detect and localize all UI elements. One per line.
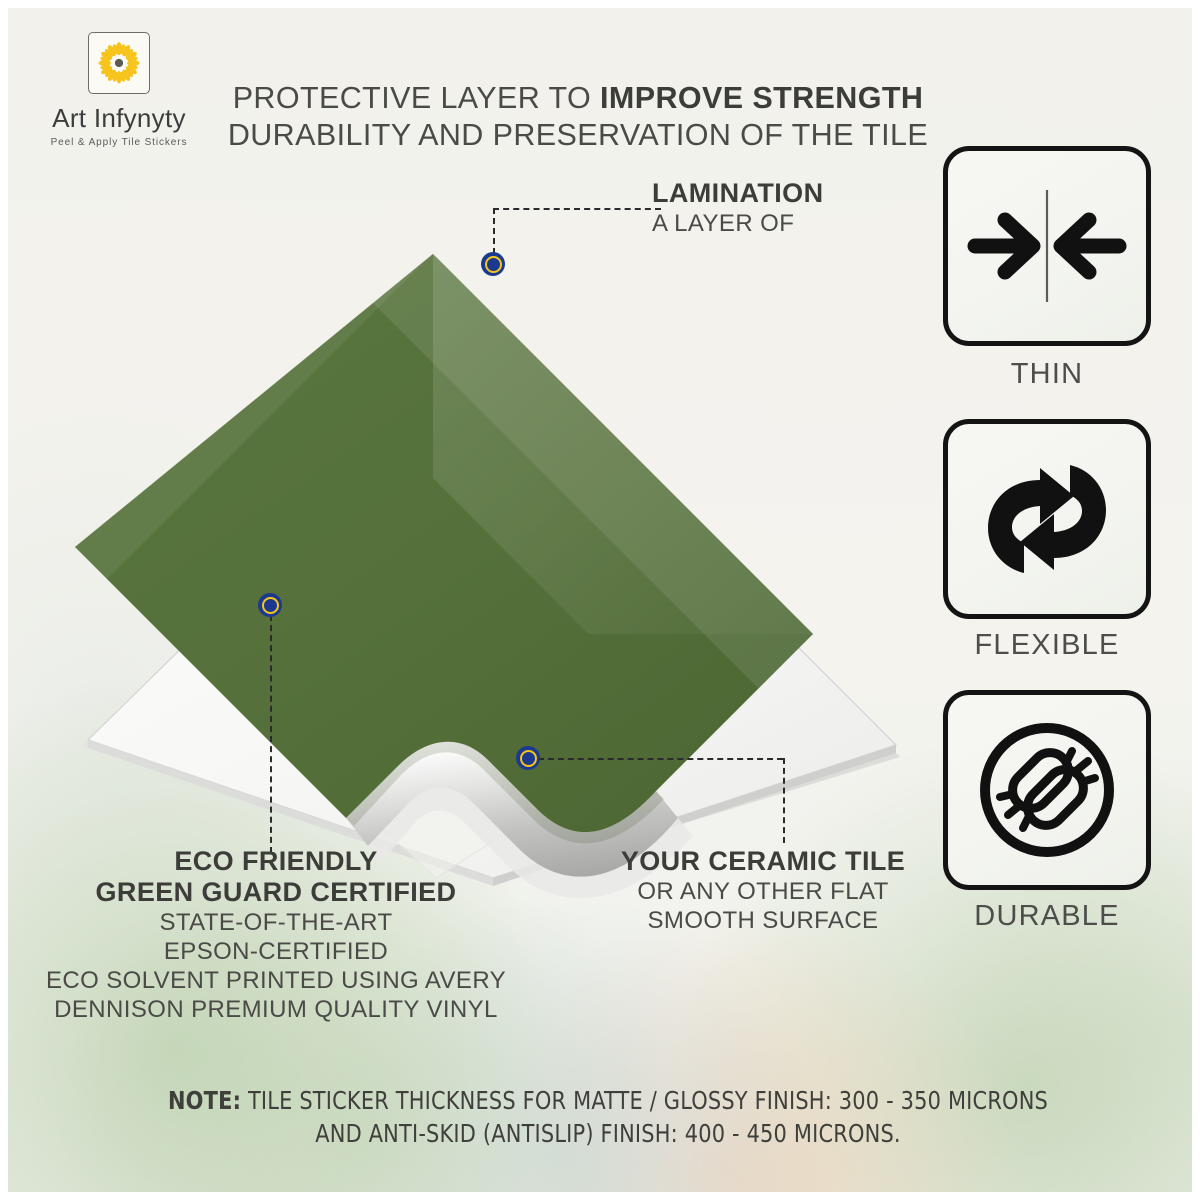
- page-title: PROTECTIVE LAYER TO IMPROVE STRENGTH DUR…: [208, 80, 948, 154]
- callout-eco-sub-line2: EPSON-CERTIFIED: [26, 937, 526, 966]
- brand-name: Art Infynyty: [34, 103, 204, 134]
- layer-stack-diagram: [68, 178, 918, 938]
- callout-eco-sub-line4: DENNISON PREMIUM QUALITY VINYL: [26, 995, 526, 1024]
- sunflower-icon: [88, 32, 150, 94]
- feature-flexible[interactable]: FLEXIBLE: [938, 419, 1156, 662]
- feature-durable-label: DURABLE: [938, 900, 1156, 933]
- headline-line1-plain: PROTECTIVE LAYER TO: [233, 81, 600, 115]
- callout-eco-title-line1: ECO FRIENDLY: [26, 846, 526, 877]
- brand-tagline: Peel & Apply Tile Stickers: [34, 137, 204, 148]
- callout-eco-sub-line1: STATE-OF-THE-ART: [26, 908, 526, 937]
- headline-line2: DURABILITY AND PRESERVATION OF THE TILE: [228, 118, 928, 152]
- arrows-inward-icon: [967, 176, 1127, 316]
- feature-durable[interactable]: DURABLE: [938, 690, 1156, 933]
- feature-badges: THIN FLEXIBLE: [938, 146, 1156, 961]
- leader-line-eco-vertical: [270, 615, 272, 853]
- feature-thin[interactable]: THIN: [938, 146, 1156, 391]
- note-label: NOTE:: [168, 1086, 241, 1115]
- note-line1: TILE STICKER THICKNESS FOR MATTE / GLOSS…: [241, 1086, 1048, 1115]
- feature-flexible-label: FLEXIBLE: [938, 629, 1156, 662]
- leader-line-lamination-horizontal: [493, 208, 661, 210]
- note-line2: AND ANTI-SKID (ANTISLIP) FINISH: 400 - 4…: [315, 1119, 900, 1148]
- marker-lamination[interactable]: [481, 252, 505, 276]
- feature-flexible-box: [943, 419, 1151, 619]
- callout-eco-title-line2: GREEN GUARD CERTIFIED: [26, 877, 526, 908]
- note-text: NOTE: TILE STICKER THICKNESS FOR MATTE /…: [106, 1084, 1110, 1150]
- headline-line1-bold: IMPROVE STRENGTH: [600, 81, 923, 115]
- marker-ceramic-tile[interactable]: [516, 746, 540, 770]
- twisted-arrows-icon: [972, 444, 1122, 594]
- callout-eco-friendly: ECO FRIENDLY GREEN GUARD CERTIFIED STATE…: [26, 846, 526, 1024]
- infographic-root: Art Infynyty Peel & Apply Tile Stickers …: [0, 0, 1200, 1200]
- callout-ceramic-tile: YOUR CERAMIC TILE OR ANY OTHER FLAT SMOO…: [588, 846, 938, 935]
- callout-eco-sub-line3: ECO SOLVENT PRINTED USING AVERY: [26, 966, 526, 995]
- brand-logo[interactable]: Art Infynyty Peel & Apply Tile Stickers: [34, 32, 204, 148]
- leader-line-tile-vertical: [783, 758, 785, 843]
- callout-lamination: LAMINATION A LAYER OF: [652, 178, 823, 238]
- callout-lamination-subtitle: A LAYER OF: [652, 209, 823, 238]
- unbreakable-chain-link-icon: [971, 714, 1123, 866]
- callout-tile-sub-line1: OR ANY OTHER FLAT: [588, 877, 938, 906]
- callout-tile-sub-line2: SMOOTH SURFACE: [588, 906, 938, 935]
- callout-tile-title: YOUR CERAMIC TILE: [588, 846, 938, 877]
- callout-lamination-title: LAMINATION: [652, 178, 823, 209]
- background-canvas: Art Infynyty Peel & Apply Tile Stickers …: [8, 8, 1192, 1192]
- leader-line-tile-horizontal: [528, 758, 783, 760]
- feature-durable-box: [943, 690, 1151, 890]
- marker-eco-friendly[interactable]: [258, 593, 282, 617]
- feature-thin-box: [943, 146, 1151, 346]
- feature-thin-label: THIN: [938, 358, 1156, 391]
